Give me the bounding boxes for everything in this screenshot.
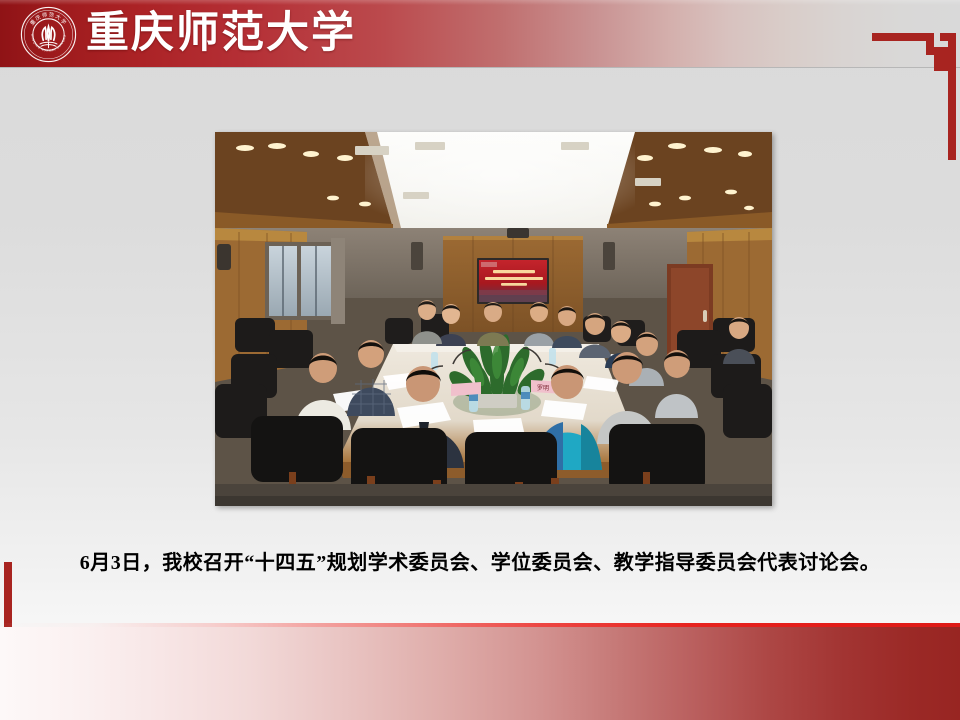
- chinese-corner-ornament-top-right: [864, 8, 960, 160]
- university-seal-logo: 重庆师范大学 CHONGQING NORMAL UNIVERSITY: [20, 6, 77, 63]
- slide-caption: 6月3日，我校召开“十四五”规划学术委员会、学位委员会、教学指导委员会代表讨论会…: [40, 548, 920, 578]
- footer-band: [0, 627, 960, 720]
- university-name-title: 重庆师范大学: [86, 4, 356, 64]
- presentation-slide: 重庆师范大学 CHONGQING NORMAL UNIVERSITY 重庆师范大…: [0, 0, 960, 720]
- meeting-room-photograph: 罗明: [215, 132, 772, 506]
- svg-text:罗明: 罗明: [537, 385, 549, 392]
